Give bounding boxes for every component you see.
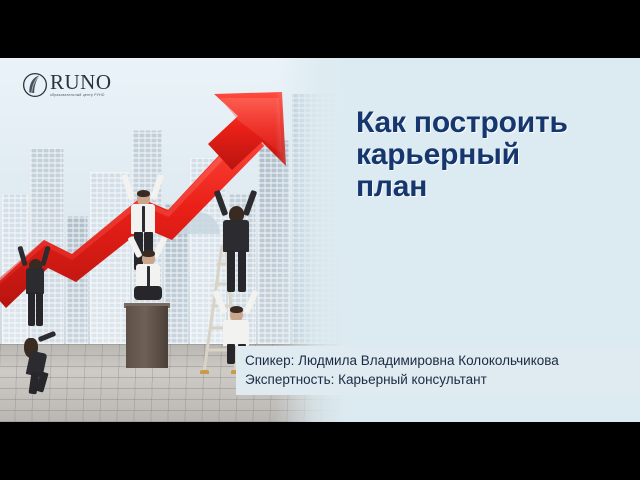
runo-emblem-icon	[22, 72, 48, 98]
speaker-name-line: Спикер: Людмила Владимировна Колокольчик…	[245, 351, 640, 370]
runo-wordmark: RUNO	[50, 72, 112, 93]
letterbox-bottom	[0, 422, 640, 480]
runo-logo-text: RUNO образовательный центр РУНО	[50, 72, 112, 97]
title-line-1: Как построить	[356, 107, 636, 139]
speaker-expertise-line: Экспертность: Карьерный консультант	[245, 370, 640, 389]
page-title: Как построить карьерный план	[356, 107, 636, 202]
video-slide: Как построить карьерный план Спикер: Люд…	[0, 0, 640, 480]
runo-logo: RUNO образовательный центр РУНО	[22, 72, 112, 98]
skyline-building	[66, 216, 88, 344]
slide-canvas: Как построить карьерный план Спикер: Люд…	[0, 58, 640, 422]
title-line-2: карьерный	[356, 139, 636, 171]
speaker-banner: Спикер: Людмила Владимировна Колокольчик…	[236, 346, 640, 395]
person-figure	[18, 246, 52, 330]
letterbox-top	[0, 0, 640, 58]
person-figure	[8, 332, 60, 394]
person-figure	[214, 190, 258, 294]
title-line-3: план	[356, 171, 636, 203]
pedestal	[126, 306, 168, 368]
runo-tagline: образовательный центр РУНО	[50, 94, 112, 98]
person-figure	[126, 236, 170, 308]
